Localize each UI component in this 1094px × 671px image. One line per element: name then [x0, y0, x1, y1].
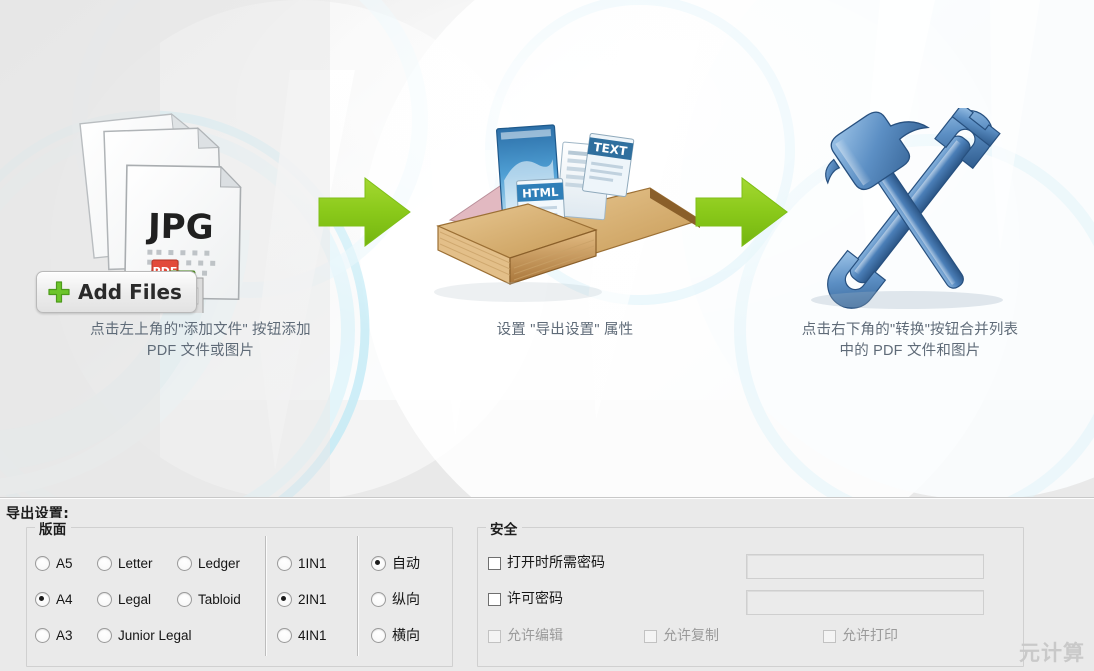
security-groupbox: 安全 打开时所需密码 许可密码 允许编辑 允许复制 允许打印	[477, 527, 1024, 667]
radio-label: A4	[56, 593, 73, 607]
radio-indicator[interactable]	[371, 628, 386, 643]
radio-label: Ledger	[198, 557, 240, 571]
svg-text:HTML: HTML	[522, 185, 560, 201]
radio-indicator[interactable]	[177, 592, 192, 607]
plus-icon	[47, 280, 71, 304]
radio-indicator[interactable]	[35, 592, 50, 607]
radio-indicator[interactable]	[35, 628, 50, 643]
checkbox-indicator[interactable]	[488, 557, 501, 570]
checkbox-indicator[interactable]	[488, 593, 501, 606]
panel-divider	[0, 497, 1094, 498]
add-files-button[interactable]: Add Files	[36, 271, 197, 313]
radio-label: 横向	[392, 629, 420, 643]
radio-label: 4IN1	[298, 629, 327, 643]
radio-orientation-portrait[interactable]: 纵向	[371, 592, 420, 607]
checkbox-open-password[interactable]: 打开时所需密码	[488, 556, 605, 570]
layout-groupbox: 版面 A5 A4 A3 Letter Legal Junior Legal	[26, 527, 453, 667]
svg-text:JPG: JPG	[146, 207, 214, 248]
step-2-artwork: TEXT HTML	[400, 108, 730, 313]
checkbox-allow-edit[interactable]: 允许编辑	[488, 629, 563, 643]
radio-indicator[interactable]	[277, 556, 292, 571]
radio-indicator[interactable]	[371, 556, 386, 571]
security-legend: 安全	[486, 518, 522, 538]
checkbox-permission-password[interactable]: 许可密码	[488, 592, 563, 606]
radio-orientation-landscape[interactable]: 横向	[371, 628, 420, 643]
radio-label: 纵向	[392, 593, 420, 607]
checkbox-label: 允许复制	[663, 629, 719, 643]
radio-nup-1in1[interactable]: 1IN1	[277, 556, 327, 571]
radio-indicator[interactable]	[277, 592, 292, 607]
layout-legend: 版面	[35, 518, 71, 538]
radio-indicator[interactable]	[177, 556, 192, 571]
checkbox-indicator[interactable]	[644, 630, 657, 643]
checkbox-allow-copy[interactable]: 允许复制	[644, 629, 719, 643]
radio-label: Tabloid	[198, 593, 241, 607]
step-3-convert: 点击右下角的"转换"按钮合并列表 中的 PDF 文件和图片	[745, 108, 1075, 313]
permission-password-input[interactable]	[746, 590, 984, 615]
radio-label: A5	[56, 557, 73, 571]
step-3-artwork	[745, 108, 1075, 313]
hero-banner: PDF JPG	[0, 0, 1094, 497]
radio-indicator[interactable]	[97, 628, 112, 643]
radio-label: Letter	[118, 557, 153, 571]
step-2-export-settings: TEXT HTML	[400, 108, 730, 313]
radio-indicator[interactable]	[371, 592, 386, 607]
radio-label: 1IN1	[298, 557, 327, 571]
checkbox-indicator[interactable]	[488, 630, 501, 643]
radio-indicator[interactable]	[277, 628, 292, 643]
checkbox-label: 打开时所需密码	[507, 556, 605, 570]
radio-indicator[interactable]	[97, 556, 112, 571]
checkbox-label: 允许打印	[842, 629, 898, 643]
layout-separator-1	[265, 536, 266, 656]
open-password-input[interactable]	[746, 554, 984, 579]
radio-label: Junior Legal	[118, 629, 192, 643]
add-files-label: Add Files	[78, 280, 182, 304]
checkbox-label: 许可密码	[507, 592, 563, 606]
step-2-caption: 设置 "导出设置" 属性	[400, 320, 730, 341]
radio-label: 2IN1	[298, 593, 327, 607]
radio-nup-2in1[interactable]: 2IN1	[277, 592, 327, 607]
watermark: 元计算	[1019, 637, 1085, 667]
radio-paper-tabloid[interactable]: Tabloid	[177, 592, 241, 607]
step-1-caption: 点击左上角的"添加文件" 按钮添加 PDF 文件或图片	[28, 320, 373, 362]
app-window: PDF JPG	[0, 0, 1094, 671]
radio-paper-a4[interactable]: A4	[35, 592, 73, 607]
radio-label: A3	[56, 629, 73, 643]
checkbox-indicator[interactable]	[823, 630, 836, 643]
radio-indicator[interactable]	[35, 556, 50, 571]
checkbox-allow-print[interactable]: 允许打印	[823, 629, 898, 643]
radio-paper-a3[interactable]: A3	[35, 628, 73, 643]
radio-indicator[interactable]	[97, 592, 112, 607]
radio-label: 自动	[392, 557, 420, 571]
checkbox-label: 允许编辑	[507, 629, 563, 643]
steps-container: PDF JPG	[0, 0, 1094, 497]
radio-paper-legal[interactable]: Legal	[97, 592, 151, 607]
radio-label: Legal	[118, 593, 151, 607]
step-3-caption: 点击右下角的"转换"按钮合并列表 中的 PDF 文件和图片	[745, 320, 1075, 362]
radio-paper-letter[interactable]: Letter	[97, 556, 153, 571]
radio-paper-a5[interactable]: A5	[35, 556, 73, 571]
radio-orientation-auto[interactable]: 自动	[371, 556, 420, 571]
radio-paper-ledger[interactable]: Ledger	[177, 556, 240, 571]
radio-paper-junior-legal[interactable]: Junior Legal	[97, 628, 192, 643]
layout-separator-2	[357, 536, 358, 656]
radio-nup-4in1[interactable]: 4IN1	[277, 628, 327, 643]
